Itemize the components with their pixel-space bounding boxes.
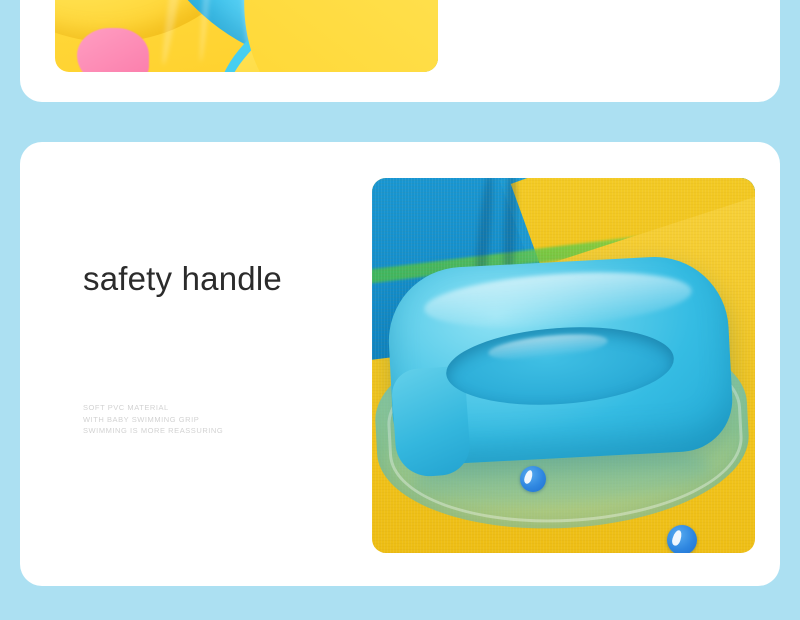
feature-text-column: safety handle SOFT PVC MATERIAL WITH BAB…	[83, 262, 353, 295]
water-droplet-sticker	[520, 466, 546, 492]
float-pink-accent	[77, 28, 149, 72]
caption-line-2: WITH BABY SWIMMING GRIP	[83, 414, 343, 426]
product-photo-safety-handle	[372, 178, 755, 553]
feature-title: safety handle	[83, 262, 353, 295]
photo-artwork-feature	[372, 178, 755, 553]
feature-caption-block: SOFT PVC MATERIAL WITH BABY SWIMMING GRI…	[83, 402, 343, 437]
caption-line-3: SWIMMING IS MORE REASSURING	[83, 425, 343, 437]
caption-line-1: SOFT PVC MATERIAL	[83, 402, 343, 414]
feature-card-safety-handle: safety handle SOFT PVC MATERIAL WITH BAB…	[20, 142, 780, 586]
product-photo-top	[55, 0, 438, 72]
product-photo-card-top	[20, 0, 780, 102]
water-droplet-sticker	[667, 525, 697, 553]
photo-artwork-top	[55, 0, 438, 72]
